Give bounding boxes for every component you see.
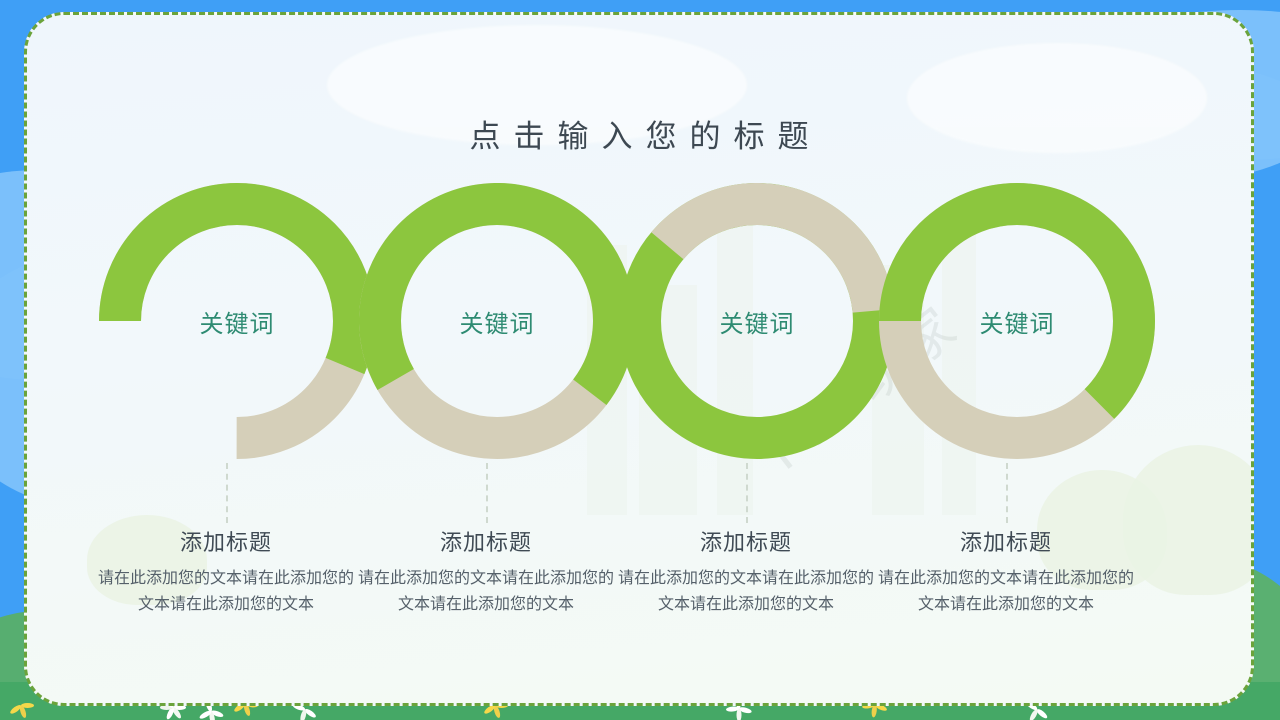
- text-block-4-title: 添加标题: [875, 525, 1137, 557]
- ring-4-keyword: 关键词: [879, 183, 1155, 459]
- ring-1[interactable]: 关键词: [99, 183, 375, 459]
- text-block-1: 添加标题 请在此添加您的文本请在此添加您的文本请在此添加您的文本: [95, 525, 357, 618]
- ring-2[interactable]: 关键词: [359, 183, 635, 459]
- ring-3-keyword: 关键词: [619, 183, 895, 459]
- text-block-2-body: 请在此添加您的文本请在此添加您的文本请在此添加您的文本: [355, 566, 617, 618]
- ring-3[interactable]: 关键词: [619, 183, 895, 459]
- ring-1-keyword: 关键词: [99, 183, 375, 459]
- content-card: PPT玩家 点击输入您的标题 关键词 关: [24, 12, 1254, 706]
- text-block-4: 添加标题 请在此添加您的文本请在此添加您的文本请在此添加您的文本: [875, 525, 1137, 618]
- text-block-3-title: 添加标题: [615, 525, 877, 557]
- text-block-3: 添加标题 请在此添加您的文本请在此添加您的文本请在此添加您的文本: [615, 525, 877, 618]
- text-block-4-body: 请在此添加您的文本请在此添加您的文本请在此添加您的文本: [875, 566, 1137, 618]
- text-block-1-title: 添加标题: [95, 525, 357, 557]
- text-block-2-title: 添加标题: [355, 525, 617, 557]
- text-block-2: 添加标题 请在此添加您的文本请在此添加您的文本请在此添加您的文本: [355, 525, 617, 618]
- ring-2-keyword: 关键词: [359, 183, 635, 459]
- text-block-1-body: 请在此添加您的文本请在此添加您的文本请在此添加您的文本: [95, 566, 357, 618]
- slide-canvas: PPT玩家 点击输入您的标题 关键词 关: [0, 0, 1280, 720]
- ring-4[interactable]: 关键词: [879, 183, 1155, 459]
- text-block-3-body: 请在此添加您的文本请在此添加您的文本请在此添加您的文本: [615, 566, 877, 618]
- text-block-group: 添加标题 请在此添加您的文本请在此添加您的文本请在此添加您的文本 添加标题 请在…: [27, 525, 1251, 705]
